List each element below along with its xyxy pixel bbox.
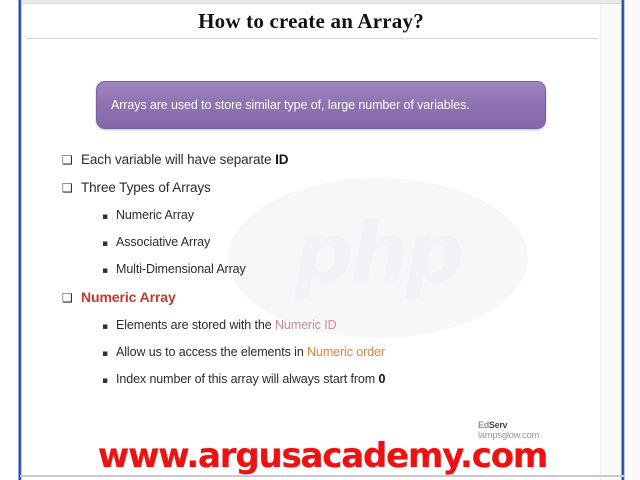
bullet-item: ❑Numeric Array <box>62 289 582 305</box>
bullet-item: ▪Elements are stored with the Numeric ID <box>102 318 582 332</box>
bullet-item-label: Each variable will have separate ID <box>81 152 288 167</box>
bullet-text: Each variable will have separate <box>81 152 275 167</box>
bullet-item-label: Numeric Array <box>81 289 176 305</box>
bullet-item: ❑Three Types of Arrays <box>62 180 582 195</box>
bullet-item-label: Allow us to access the elements in Numer… <box>116 345 385 359</box>
bullet-emphasis-text: Numeric order <box>307 345 385 359</box>
bullet-item-label: Multi-Dimensional Array <box>116 262 246 276</box>
square-outline-bullet-icon: ❑ <box>62 292 81 304</box>
bullet-item: ▪Index number of this array will always … <box>102 372 582 386</box>
bullet-text: Index number of this array will always s… <box>116 372 378 386</box>
bullet-list: ❑Each variable will have separate ID❑Thr… <box>62 152 582 399</box>
bullet-item-label: Associative Array <box>116 235 210 249</box>
slide-canvas: How to create an Array? php Arrays are u… <box>0 0 640 480</box>
square-filled-bullet-icon: ▪ <box>102 240 116 249</box>
bullet-text: Associative Array <box>116 235 210 249</box>
bullet-emphasis-text: Numeric ID <box>275 318 337 332</box>
right-gutter <box>600 4 621 480</box>
bullet-emphasis-text: 0 <box>378 372 385 386</box>
square-filled-bullet-icon: ▪ <box>102 213 116 222</box>
right-edge-strip <box>625 0 640 480</box>
slide-title-bar: How to create an Array? <box>22 5 600 37</box>
bullet-item: ▪Numeric Array <box>102 208 582 222</box>
bullet-item: ▪Allow us to access the elements in Nume… <box>102 345 582 359</box>
right-blue-rail[interactable] <box>621 0 625 480</box>
bullet-text: Elements are stored with the <box>116 318 275 332</box>
bullet-item-label: Numeric Array <box>116 208 194 222</box>
definition-banner-text: Arrays are used to store similar type of… <box>97 98 470 112</box>
bullet-item-label: Three Types of Arrays <box>81 180 211 195</box>
left-edge-strip <box>0 0 18 480</box>
square-filled-bullet-icon: ▪ <box>102 267 116 276</box>
bullet-item: ▪Associative Array <box>102 235 582 249</box>
title-divider <box>26 38 598 39</box>
bullet-text: Multi-Dimensional Array <box>116 262 246 276</box>
bullet-emphasis-text: ID <box>275 152 288 167</box>
bullet-item-label: Index number of this array will always s… <box>116 372 385 386</box>
bullet-item: ❑Each variable will have separate ID <box>62 152 582 167</box>
bullet-item: ▪Multi-Dimensional Array <box>102 262 582 276</box>
square-outline-bullet-icon: ❑ <box>62 154 81 166</box>
footer-url-band: www.argusacademy.com <box>20 436 625 476</box>
definition-banner: Arrays are used to store similar type of… <box>96 81 546 129</box>
bullet-text: Allow us to access the elements in <box>116 345 307 359</box>
square-filled-bullet-icon: ▪ <box>102 350 116 359</box>
edserv-logo-ed: Ed <box>478 420 489 430</box>
page-title: How to create an Array? <box>198 9 424 34</box>
edserv-logo-name: EdServ <box>478 421 539 430</box>
bullet-item-label: Elements are stored with the Numeric ID <box>116 318 337 332</box>
footer-url[interactable]: www.argusacademy.com <box>98 436 547 476</box>
left-blue-rail[interactable] <box>18 0 22 480</box>
square-outline-bullet-icon: ❑ <box>62 182 81 194</box>
square-filled-bullet-icon: ▪ <box>102 377 116 386</box>
top-edge-strip <box>0 0 640 4</box>
edserv-logo-serv: Serv <box>489 420 507 430</box>
bullet-text: Three Types of Arrays <box>81 180 211 195</box>
square-filled-bullet-icon: ▪ <box>102 323 116 332</box>
bullet-text: Numeric Array <box>116 208 194 222</box>
bottom-divider <box>20 475 625 477</box>
bullet-text: Numeric Array <box>81 289 176 305</box>
